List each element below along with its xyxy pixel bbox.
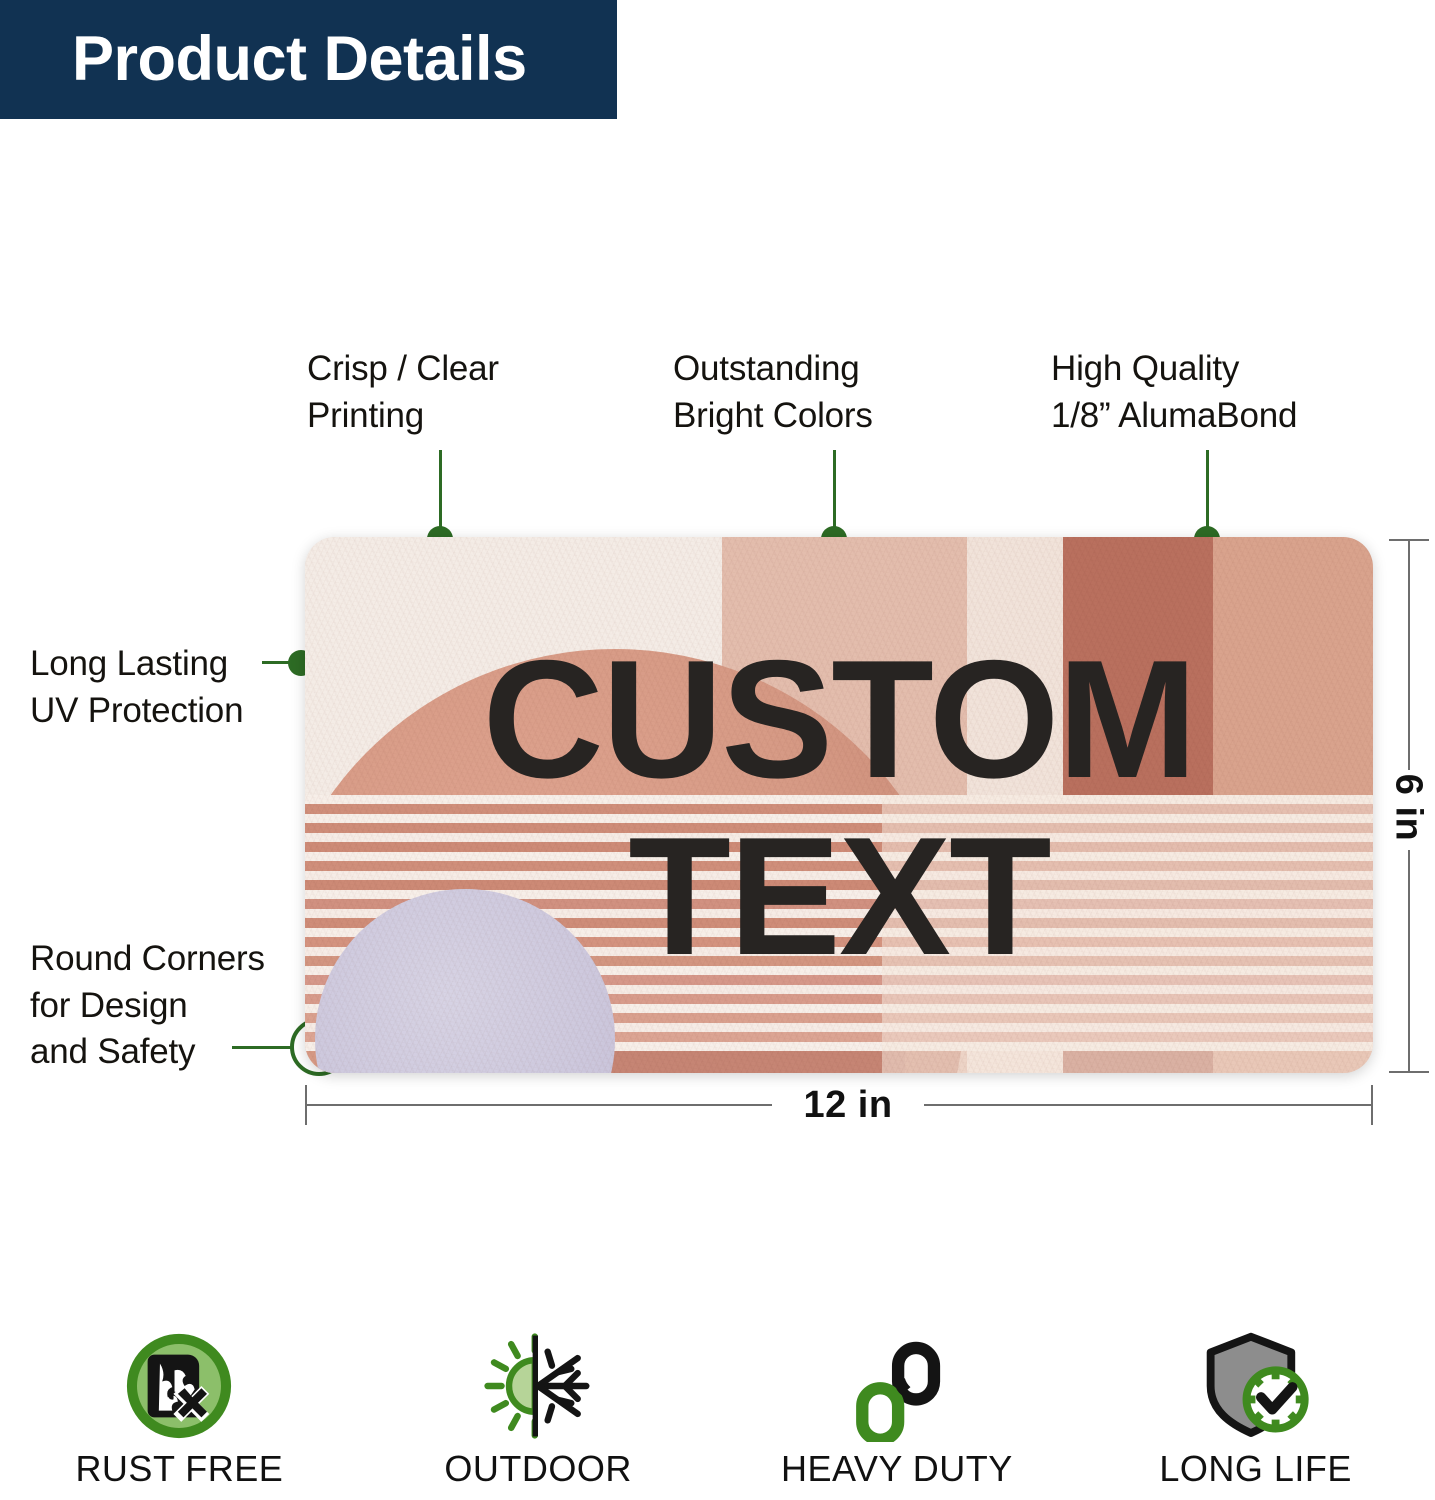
feature-label-outdoor: OUTDOOR (444, 1448, 632, 1490)
connector-line-crisp-clear-printing (439, 450, 442, 538)
dimension-label-height: 6 in (1387, 768, 1430, 848)
feature-outdoor: OUTDOOR (359, 1330, 718, 1500)
custom-sign-preview: CUSTOM TEXT (305, 537, 1373, 1073)
callout-label-long-lasting-uv-protection: Long Lasting UV Protection (30, 641, 243, 734)
dimension-cap-height-bottom (1389, 1071, 1429, 1073)
connector-line-high-quality-alumabond (1206, 450, 1209, 538)
feature-label-long-life: LONG LIFE (1159, 1448, 1352, 1490)
dimension-line-height-upper (1408, 540, 1410, 770)
dimension-cap-width-right (1371, 1085, 1373, 1125)
header-banner: Product Details (0, 0, 617, 119)
feature-long-life: LONG LIFE (1076, 1330, 1435, 1500)
chain-link-icon (845, 1330, 949, 1442)
callout-label-crisp-clear-printing: Crisp / Clear Printing (307, 346, 499, 439)
feature-badges: RUST FREE (0, 1330, 1435, 1500)
feature-heavy-duty: HEAVY DUTY (718, 1330, 1077, 1500)
dimension-line-width-right (924, 1104, 1372, 1106)
dimension-cap-width-left (305, 1085, 307, 1125)
sun-snowflake-icon (479, 1330, 597, 1442)
shield-clock-icon (1197, 1330, 1315, 1442)
dimension-label-width: 12 in (772, 1084, 924, 1127)
connector-line-outstanding-bright-colors (833, 450, 836, 538)
callout-label-round-corners: Round Corners for Design and Safety (30, 936, 265, 1076)
dimension-line-height-lower (1408, 850, 1410, 1072)
feature-label-heavy-duty: HEAVY DUTY (781, 1448, 1013, 1490)
dimension-line-width-left (306, 1104, 772, 1106)
rust-free-icon (123, 1330, 235, 1442)
dimension-cap-height-top (1389, 539, 1429, 541)
connector-line-round-corners (232, 1046, 294, 1049)
sign-texture-overlay (305, 537, 1373, 1073)
callout-label-outstanding-bright-colors: Outstanding Bright Colors (673, 346, 873, 439)
feature-label-rust-free: RUST FREE (75, 1448, 283, 1490)
feature-rust-free: RUST FREE (0, 1330, 359, 1500)
callout-label-high-quality-alumabond: High Quality 1/8” AlumaBond (1051, 346, 1297, 439)
product-details-infographic: Product Details Crisp / Clear Printing O… (0, 0, 1435, 1500)
page-title: Product Details (0, 28, 527, 91)
